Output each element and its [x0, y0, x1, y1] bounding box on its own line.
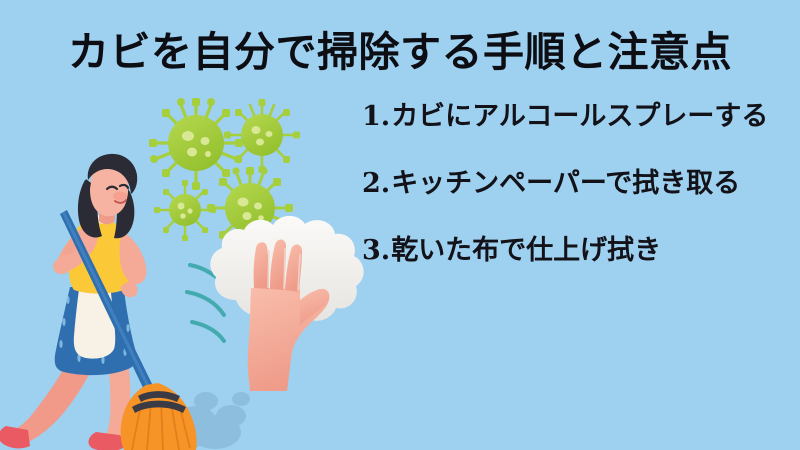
- poster-canvas: カビを自分で掃除する手順と注意点 1. カビにアルコールスプレーする 2. キッ…: [0, 0, 800, 450]
- step-number: 3.: [362, 237, 390, 264]
- step-text: 乾いた布で仕上げ拭き: [391, 237, 661, 264]
- step-text: キッチンペーパーで拭き取る: [391, 170, 740, 197]
- list-item: 3. 乾いた布で仕上げ拭き: [362, 237, 800, 304]
- step-number: 2.: [362, 170, 390, 197]
- list-item: 1. カビにアルコールスプレーする: [362, 103, 800, 170]
- step-text: カビにアルコールスプレーする: [391, 103, 768, 130]
- list-item: 2. キッチンペーパーで拭き取る: [362, 170, 800, 237]
- steps-list: 1. カビにアルコールスプレーする 2. キッチンペーパーで拭き取る 3. 乾い…: [362, 103, 800, 304]
- page-title: カビを自分で掃除する手順と注意点: [0, 29, 800, 76]
- step-number: 1.: [362, 103, 390, 130]
